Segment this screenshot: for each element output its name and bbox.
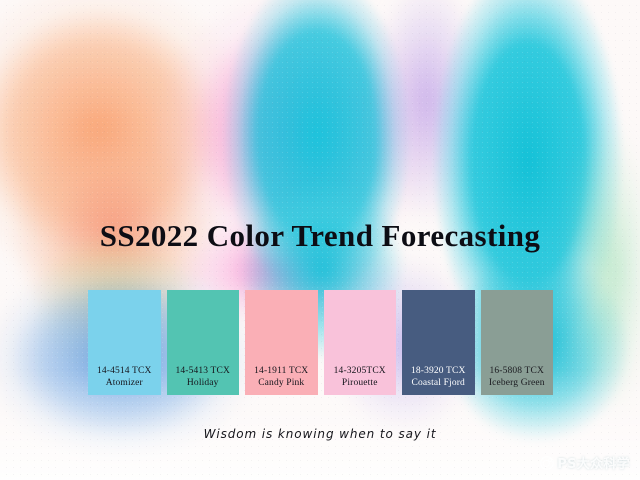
watermark-text: PS大众科学 xyxy=(557,453,630,472)
color-swatch[interactable]: 14-5413 TCXHoliday xyxy=(167,290,240,395)
swatch-code: 14-1911 TCX xyxy=(254,365,308,377)
swatch-name: Coastal Fjord xyxy=(412,377,465,389)
color-swatch-strip: 14-4514 TCXAtomizer14-5413 TCXHoliday14-… xyxy=(88,290,553,395)
swatch-code: 14-3205TCX xyxy=(334,365,386,377)
weibo-logo-icon xyxy=(540,456,554,470)
poster-title: SS2022 Color Trend Forecasting xyxy=(0,218,640,254)
color-swatch[interactable]: 14-3205TCXPirouette xyxy=(324,290,397,395)
swatch-code: 16-5808 TCX xyxy=(489,365,544,377)
color-swatch[interactable]: 14-4514 TCXAtomizer xyxy=(88,290,161,395)
watercolor-green-edge xyxy=(566,120,640,420)
poster-caption: Wisdom is knowing when to say it xyxy=(0,427,640,441)
color-swatch[interactable]: 14-1911 TCXCandy Pink xyxy=(245,290,318,395)
swatch-code: 18-3920 TCX xyxy=(411,365,466,377)
swatch-name: Candy Pink xyxy=(258,377,304,389)
color-trend-poster: SS2022 Color Trend Forecasting 14-4514 T… xyxy=(0,0,640,480)
swatch-name: Iceberg Green xyxy=(489,377,545,389)
watercolor-cyan-stroke-center xyxy=(222,0,412,300)
swatch-name: Holiday xyxy=(187,377,219,389)
color-swatch[interactable]: 18-3920 TCXCoastal Fjord xyxy=(402,290,475,395)
watercolor-violet-accent xyxy=(370,0,485,225)
swatch-name: Atomizer xyxy=(106,377,143,389)
watermark: PS大众科学 xyxy=(540,453,630,472)
color-swatch[interactable]: 16-5808 TCXIceberg Green xyxy=(481,290,554,395)
swatch-name: Pirouette xyxy=(342,377,378,389)
swatch-code: 14-4514 TCX xyxy=(97,365,152,377)
swatch-code: 14-5413 TCX xyxy=(175,365,230,377)
